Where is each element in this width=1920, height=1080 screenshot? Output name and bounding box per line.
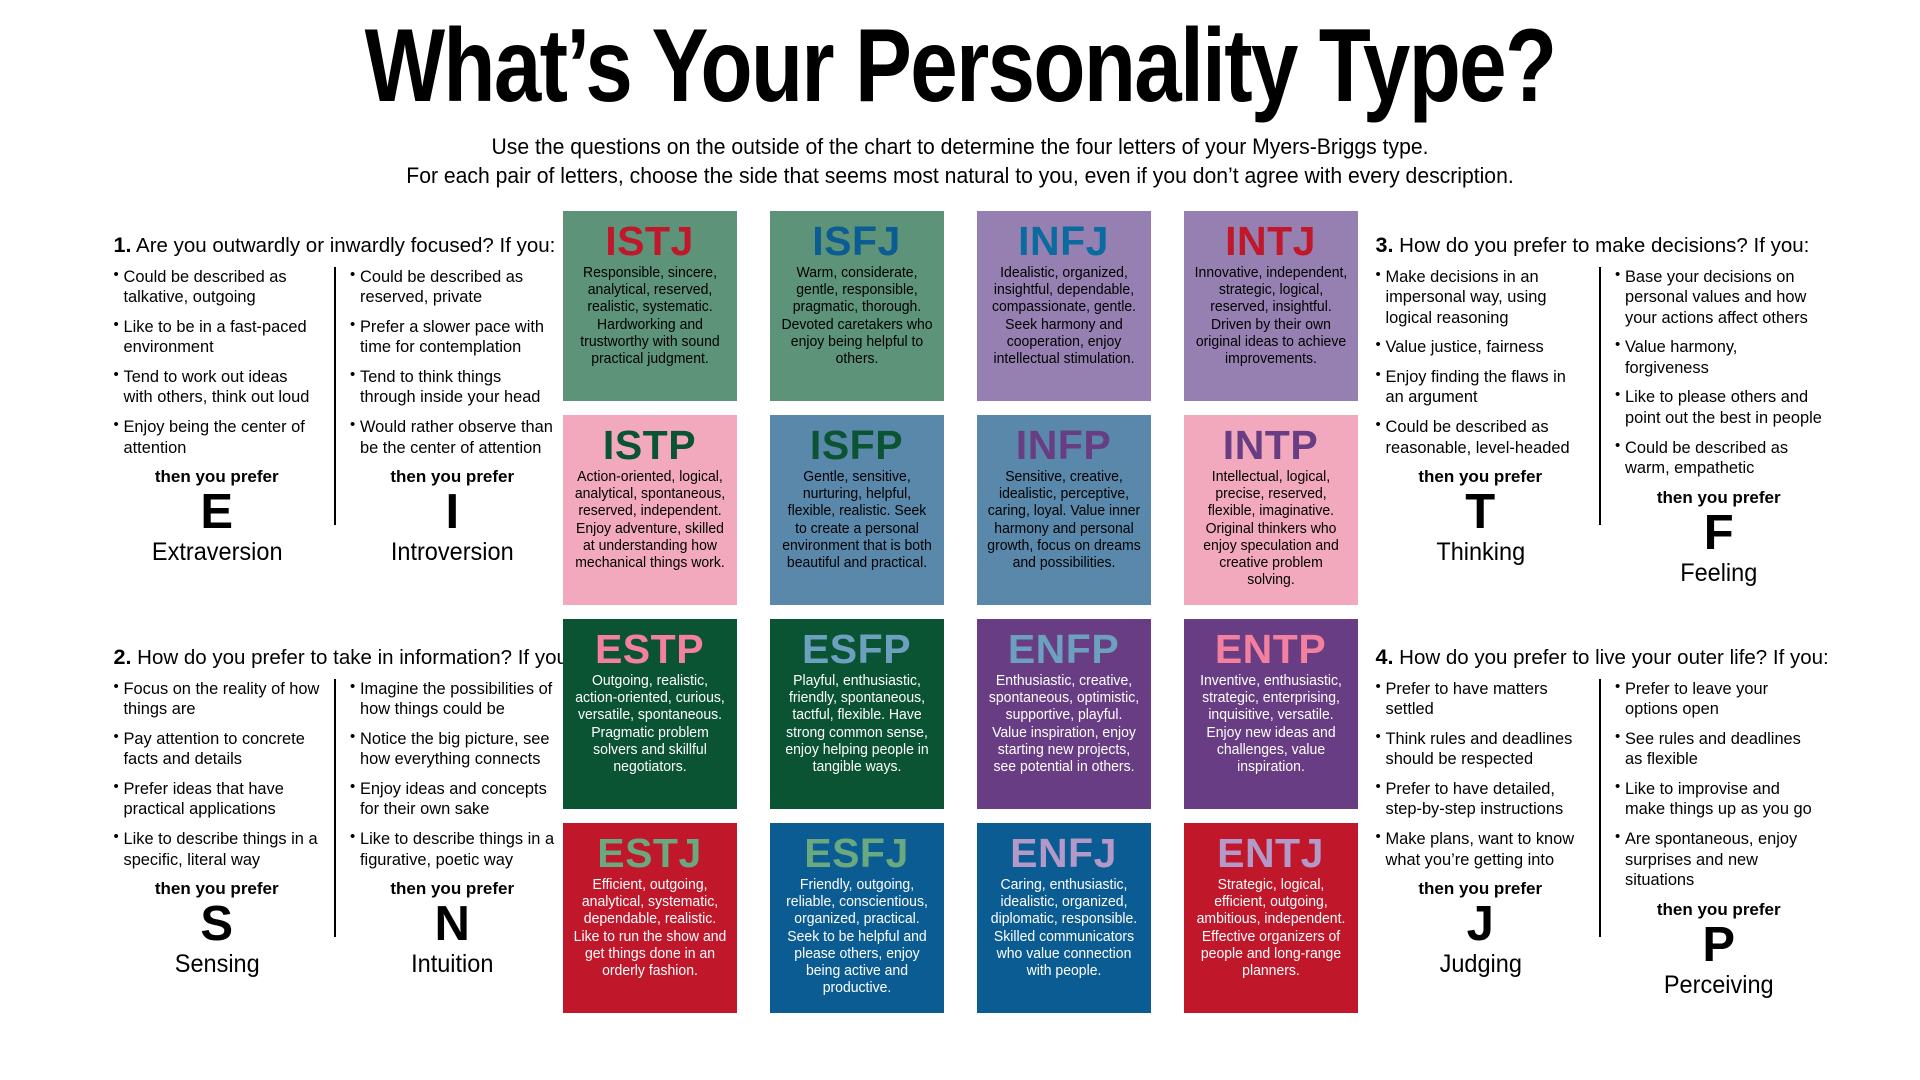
preference-letter: N <box>350 899 555 951</box>
bullet-item: Enjoy ideas and concepts for their own s… <box>350 779 555 820</box>
type-code: ISTJ <box>570 219 730 263</box>
question-4-columns: Prefer to have matters settled Think rul… <box>1376 679 1823 1000</box>
bullet-item: Could be described as warm, empathetic <box>1615 438 1823 479</box>
bullet-item: See rules and deadlines as flexible <box>1615 729 1823 770</box>
question-3-left-result: then you prefer T Thinking <box>1376 467 1586 566</box>
type-card-enfp[interactable]: ENFP Enthusiastic, creative, spontaneous… <box>977 619 1151 809</box>
bullet-item: Like to describe things in a figurative,… <box>350 829 555 870</box>
type-code: ESFP <box>777 627 937 671</box>
question-block-4: 4. How do you prefer to live your outer … <box>1376 645 1823 1045</box>
chart-header: What’s Your Personality Type? Use the qu… <box>0 0 1920 191</box>
type-code: ENFP <box>984 627 1144 671</box>
question-4-right-option: Prefer to leave your options open See ru… <box>1599 679 1823 1000</box>
prefer-label: then you prefer <box>350 879 555 899</box>
preference-name: Introversion <box>356 539 548 567</box>
type-code: ENTP <box>1191 627 1351 671</box>
question-block-1: 1. Are you outwardly or inwardly focused… <box>114 233 555 633</box>
question-2-left-option: Focus on the reality of how things are P… <box>114 679 335 979</box>
preference-name: Thinking <box>1382 539 1579 567</box>
type-code: ENTJ <box>1191 831 1351 875</box>
bullet-item: Base your decisions on personal values a… <box>1615 267 1823 329</box>
bullet-item: Like to please others and point out the … <box>1615 387 1823 428</box>
bullet-item: Like to describe things in a specific, l… <box>114 829 321 870</box>
chart-body: 1. Are you outwardly or inwardly focused… <box>0 207 1920 1045</box>
prefer-label: then you prefer <box>114 467 321 487</box>
type-description: Strategic, logical, efficient, outgoing,… <box>1194 877 1348 981</box>
type-description: Efficient, outgoing, analytical, systema… <box>573 877 727 981</box>
preference-name: Intuition <box>356 951 548 979</box>
left-question-column: 1. Are you outwardly or inwardly focused… <box>58 207 563 1045</box>
type-code: ISFJ <box>777 219 937 263</box>
bullet-item: Tend to work out ideas with others, thin… <box>114 367 321 408</box>
type-code: INTP <box>1191 423 1351 467</box>
right-question-column: 3. How do you prefer to make decisions? … <box>1358 207 1863 1045</box>
type-code: INTJ <box>1191 219 1351 263</box>
preference-letter: S <box>114 899 321 951</box>
bullet-item: Prefer to have matters settled <box>1376 679 1586 720</box>
preference-name: Perceiving <box>1621 972 1816 1000</box>
bullet-item: Could be described as reasonable, level-… <box>1376 417 1586 458</box>
question-3-columns: Make decisions in an impersonal way, usi… <box>1376 267 1823 588</box>
type-description: Inventive, enthusiastic, strategic, ente… <box>1194 673 1348 777</box>
prefer-label: then you prefer <box>1376 879 1586 899</box>
question-4-left-option: Prefer to have matters settled Think rul… <box>1376 679 1600 1000</box>
type-code: ISFP <box>777 423 937 467</box>
type-card-infj[interactable]: INFJ Idealistic, organized, insightful, … <box>977 211 1151 401</box>
page-title: What’s Your Personality Type? <box>173 14 1747 118</box>
bullet-item: Enjoy finding the flaws in an argument <box>1376 367 1586 408</box>
type-code: ENFJ <box>984 831 1144 875</box>
type-code: ISTP <box>570 423 730 467</box>
bullet-item: Enjoy being the center of attention <box>114 417 321 458</box>
question-1-title: 1. Are you outwardly or inwardly focused… <box>114 233 555 258</box>
question-4-left-bullets: Prefer to have matters settled Think rul… <box>1376 679 1586 871</box>
question-3-right-option: Base your decisions on personal values a… <box>1599 267 1823 588</box>
subtitle-line-2: For each pair of letters, choose the sid… <box>58 161 1863 190</box>
bullet-item: Focus on the reality of how things are <box>114 679 321 720</box>
question-1-left-bullets: Could be described as talkative, outgoin… <box>114 267 321 459</box>
type-description: Playful, enthusiastic, friendly, spontan… <box>780 673 934 777</box>
personality-type-grid: ISTJ Responsible, sincere, analytical, r… <box>563 207 1358 1013</box>
type-card-isfp[interactable]: ISFP Gentle, sensitive, nurturing, helpf… <box>770 415 944 605</box>
question-2-right-option: Imagine the possibilities of how things … <box>334 679 555 979</box>
preference-letter: P <box>1615 920 1823 972</box>
prefer-label: then you prefer <box>350 467 555 487</box>
type-card-infp[interactable]: INFP Sensitive, creative, idealistic, pe… <box>977 415 1151 605</box>
question-2-columns: Focus on the reality of how things are P… <box>114 679 555 979</box>
question-block-3: 3. How do you prefer to make decisions? … <box>1376 233 1823 633</box>
question-4-right-bullets: Prefer to leave your options open See ru… <box>1615 679 1823 891</box>
question-4-text: How do you prefer to live your outer lif… <box>1399 646 1829 669</box>
type-code: ESTP <box>570 627 730 671</box>
question-3-left-bullets: Make decisions in an impersonal way, usi… <box>1376 267 1586 459</box>
question-1-number: 1. <box>114 233 132 257</box>
bullet-item: Could be described as talkative, outgoin… <box>114 267 321 308</box>
prefer-label: then you prefer <box>1615 900 1823 920</box>
bullet-item: Tend to think things through inside your… <box>350 367 555 408</box>
bullet-item: Prefer to leave your options open <box>1615 679 1823 720</box>
type-description: Responsible, sincere, analytical, reserv… <box>573 265 727 369</box>
question-4-number: 4. <box>1376 645 1394 669</box>
question-2-text: How do you prefer to take in information… <box>137 646 573 669</box>
type-card-estj[interactable]: ESTJ Efficient, outgoing, analytical, sy… <box>563 823 737 1013</box>
bullet-item: Imagine the possibilities of how things … <box>350 679 555 720</box>
type-card-entp[interactable]: ENTP Inventive, enthusiastic, strategic,… <box>1184 619 1358 809</box>
type-card-enfj[interactable]: ENFJ Caring, enthusiastic, idealistic, o… <box>977 823 1151 1013</box>
question-1-left-result: then you prefer E Extraversion <box>114 467 321 566</box>
type-code: INFP <box>984 423 1144 467</box>
type-code: ESFJ <box>777 831 937 875</box>
type-description: Caring, enthusiastic, idealistic, organi… <box>987 877 1141 981</box>
question-3-number: 3. <box>1376 233 1394 257</box>
question-3-left-option: Make decisions in an impersonal way, usi… <box>1376 267 1600 588</box>
question-2-left-bullets: Focus on the reality of how things are P… <box>114 679 321 871</box>
type-card-estp[interactable]: ESTP Outgoing, realistic, action-oriente… <box>563 619 737 809</box>
preference-name: Sensing <box>120 951 314 979</box>
bullet-item: Pay attention to concrete facts and deta… <box>114 729 321 770</box>
personality-type-chart: What’s Your Personality Type? Use the qu… <box>0 0 1920 1080</box>
question-2-right-result: then you prefer N Intuition <box>350 879 555 978</box>
type-card-esfj[interactable]: ESFJ Friendly, outgoing, reliable, consc… <box>770 823 944 1013</box>
type-description: Warm, considerate, gentle, responsible, … <box>780 265 934 369</box>
preference-letter: I <box>350 487 555 539</box>
question-4-right-result: then you prefer P Perceiving <box>1615 900 1823 999</box>
type-description: Enthusiastic, creative, spontaneous, opt… <box>987 673 1141 777</box>
bullet-item: Value harmony, forgiveness <box>1615 337 1823 378</box>
bullet-item: Like to be in a fast-paced environment <box>114 317 321 358</box>
type-description: Outgoing, realistic, action-oriented, cu… <box>573 673 727 777</box>
bullet-item: Prefer ideas that have practical applica… <box>114 779 321 820</box>
chart-subtitle: Use the questions on the outside of the … <box>58 132 1863 191</box>
type-code: ESTJ <box>570 831 730 875</box>
question-1-text: Are you outwardly or inwardly focused? I… <box>136 234 555 257</box>
preference-name: Extraversion <box>120 539 314 567</box>
type-description: Gentle, sensitive, nurturing, helpful, f… <box>780 469 934 573</box>
type-card-intj[interactable]: INTJ Innovative, independent, strategic,… <box>1184 211 1358 401</box>
question-3-title: 3. How do you prefer to make decisions? … <box>1376 233 1823 258</box>
prefer-label: then you prefer <box>1376 467 1586 487</box>
question-3-right-bullets: Base your decisions on personal values a… <box>1615 267 1823 479</box>
prefer-label: then you prefer <box>114 879 321 899</box>
type-description: Innovative, independent, strategic, logi… <box>1194 265 1348 369</box>
preference-letter: F <box>1615 508 1823 560</box>
bullet-item: Prefer to have detailed, step-by-step in… <box>1376 779 1586 820</box>
type-card-istj[interactable]: ISTJ Responsible, sincere, analytical, r… <box>563 211 737 401</box>
type-card-isfj[interactable]: ISFJ Warm, considerate, gentle, responsi… <box>770 211 944 401</box>
bullet-item: Make plans, want to know what you’re get… <box>1376 829 1586 870</box>
question-4-title: 4. How do you prefer to live your outer … <box>1376 645 1823 670</box>
question-1-columns: Could be described as talkative, outgoin… <box>114 267 555 567</box>
preference-letter: T <box>1376 487 1586 539</box>
prefer-label: then you prefer <box>1615 488 1823 508</box>
bullet-item: Think rules and deadlines should be resp… <box>1376 729 1586 770</box>
type-code: INFJ <box>984 219 1144 263</box>
bullet-item: Notice the big picture, see how everythi… <box>350 729 555 770</box>
bullet-item: Prefer a slower pace with time for conte… <box>350 317 555 358</box>
bullet-item: Could be described as reserved, private <box>350 267 555 308</box>
type-card-entj[interactable]: ENTJ Strategic, logical, efficient, outg… <box>1184 823 1358 1013</box>
question-1-right-bullets: Could be described as reserved, private … <box>350 267 555 459</box>
bullet-item: Value justice, fairness <box>1376 337 1586 358</box>
question-2-right-bullets: Imagine the possibilities of how things … <box>350 679 555 871</box>
question-block-2: 2. How do you prefer to take in informat… <box>114 645 555 1045</box>
preference-letter: J <box>1376 899 1586 951</box>
preference-name: Judging <box>1382 951 1579 979</box>
preference-letter: E <box>114 487 321 539</box>
type-card-intp[interactable]: INTP Intellectual, logical, precise, res… <box>1184 415 1358 605</box>
bullet-item: Would rather observe than be the center … <box>350 417 555 458</box>
question-3-text: How do you prefer to make decisions? If … <box>1399 234 1809 257</box>
subtitle-line-1: Use the questions on the outside of the … <box>58 132 1863 161</box>
type-description: Sensitive, creative, idealistic, percept… <box>987 469 1141 573</box>
question-2-number: 2. <box>114 645 132 669</box>
bullet-item: Are spontaneous, enjoy surprises and new… <box>1615 829 1823 891</box>
question-1-right-result: then you prefer I Introversion <box>350 467 555 566</box>
bullet-item: Like to improvise and make things up as … <box>1615 779 1823 820</box>
type-card-esfp[interactable]: ESFP Playful, enthusiastic, friendly, sp… <box>770 619 944 809</box>
question-2-left-result: then you prefer S Sensing <box>114 879 321 978</box>
type-description: Intellectual, logical, precise, reserved… <box>1194 469 1348 590</box>
bullet-item: Make decisions in an impersonal way, usi… <box>1376 267 1586 329</box>
type-description: Friendly, outgoing, reliable, conscienti… <box>780 877 934 998</box>
question-4-left-result: then you prefer J Judging <box>1376 879 1586 978</box>
type-card-istp[interactable]: ISTP Action-oriented, logical, analytica… <box>563 415 737 605</box>
preference-name: Feeling <box>1621 560 1816 588</box>
question-1-right-option: Could be described as reserved, private … <box>334 267 555 567</box>
type-description: Idealistic, organized, insightful, depen… <box>987 265 1141 369</box>
question-3-right-result: then you prefer F Feeling <box>1615 488 1823 587</box>
question-2-title: 2. How do you prefer to take in informat… <box>114 645 555 670</box>
type-description: Action-oriented, logical, analytical, sp… <box>573 469 727 573</box>
question-1-left-option: Could be described as talkative, outgoin… <box>114 267 335 567</box>
